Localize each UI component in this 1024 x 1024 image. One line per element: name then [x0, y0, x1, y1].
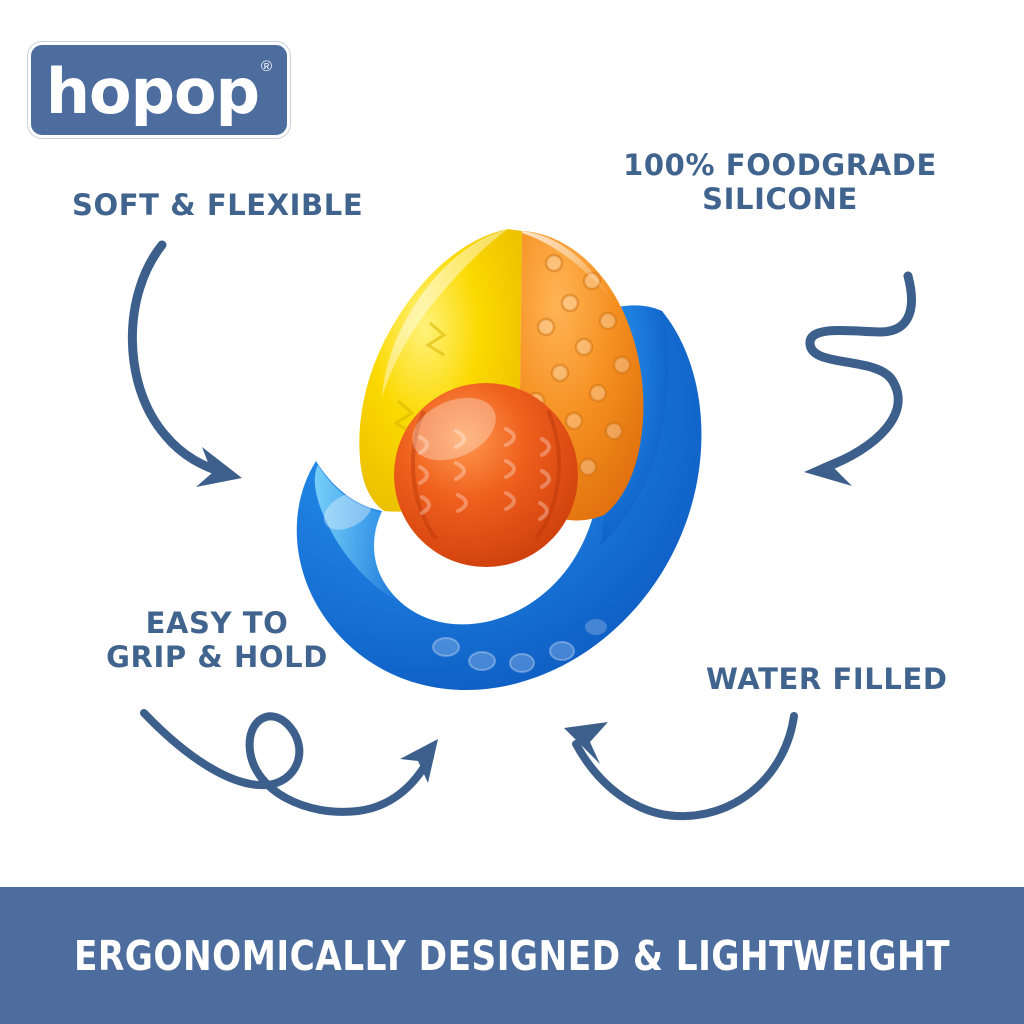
bottom-banner: ERGONOMICALLY DESIGNED & LIGHTWEIGHT: [0, 884, 1024, 1024]
teether-illustration: [270, 215, 720, 715]
registered-trademark-icon: ®: [261, 59, 272, 74]
feature-label-foodgrade: 100% FOODGRADE SILICONE: [600, 148, 960, 216]
product-infographic: hopop ® SOFT & FLEXIBLE 100% FOODGRADE S…: [0, 0, 1024, 1024]
brand-name: hopop: [46, 57, 259, 123]
product-image-teether: [270, 215, 720, 715]
arrow-icon-foodgrade: [768, 272, 958, 497]
brand-logo-inner: hopop ®: [46, 57, 272, 123]
arrow-icon-water-filled: [550, 710, 800, 830]
teether-center-ball: [394, 383, 578, 567]
banner-headline: ERGONOMICALLY DESIGNED & LIGHTWEIGHT: [74, 932, 950, 980]
feature-label-water-filled: WATER FILLED: [706, 662, 986, 696]
brand-logo: hopop ®: [28, 42, 290, 138]
